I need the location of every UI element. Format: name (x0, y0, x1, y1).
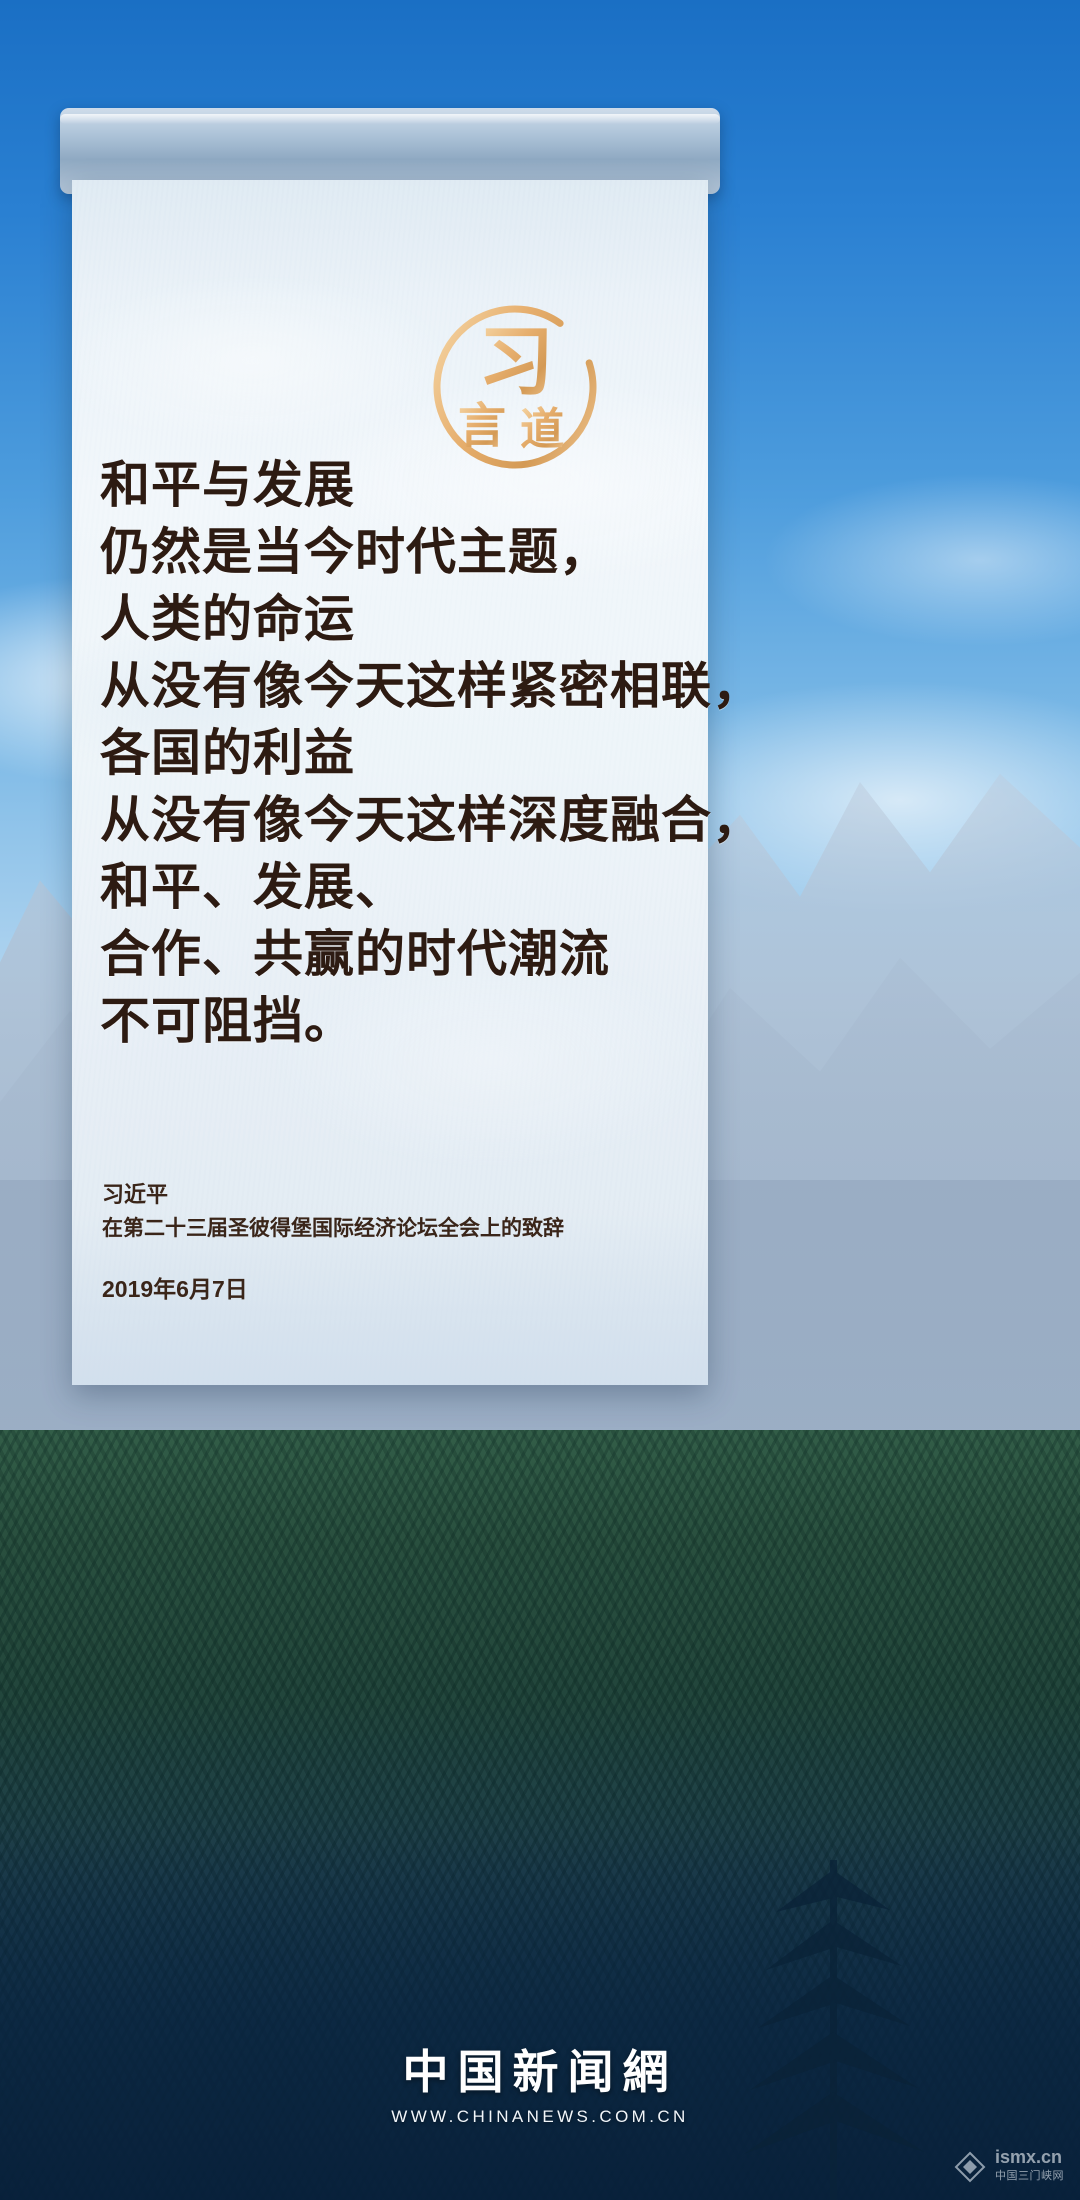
attribution-block: 习近平 在第二十三届圣彼得堡国际经济论坛全会上的致辞 2019年6月7日 (102, 1178, 742, 1306)
watermark-logo-icon (953, 2150, 987, 2184)
quote-line-3: 人类的命运 (100, 586, 740, 653)
speech-occasion: 在第二十三届圣彼得堡国际经济论坛全会上的致辞 (102, 1212, 742, 1246)
quote-line-7: 和平、发展、 (100, 854, 740, 921)
quote-line-1: 和平与发展 (100, 452, 740, 519)
quote-line-5: 各国的利益 (100, 720, 740, 787)
quote-headline: 和平与发展 仍然是当今时代主题， 人类的命运 从没有像今天这样紧密相联， 各国的… (100, 452, 740, 1055)
quote-line-8: 合作、共赢的时代潮流 (100, 921, 740, 988)
brand-name-cn: 中国新闻網 (0, 2046, 1080, 2100)
quote-line-4: 从没有像今天这样紧密相联， (100, 653, 740, 720)
watermark-text: ismx.cn 中国三门峡网 (995, 2148, 1064, 2186)
site-brand: 中国新闻網 WWW.CHINANEWS.COM.CN (0, 2046, 1080, 2127)
quote-line-2: 仍然是当今时代主题， (100, 519, 740, 586)
seal-char-xi: 习 (478, 321, 554, 405)
pine-tree-silhouette (740, 1770, 930, 2200)
brand-url: WWW.CHINANEWS.COM.CN (0, 2107, 1080, 2127)
quote-line-9: 不可阻挡。 (100, 988, 740, 1055)
speech-date: 2019年6月7日 (102, 1272, 742, 1306)
poster-canvas: 习 言 道 和平与发展 仍然是当今时代主题， 人类的命运 从没有像今天这样紧密相… (0, 0, 1080, 2200)
seal-char-dao: 道 (520, 405, 564, 454)
seal-char-yan: 言 (458, 400, 506, 453)
watermark: ismx.cn 中国三门峡网 (953, 2148, 1064, 2186)
watermark-title: ismx.cn (995, 2147, 1062, 2167)
speaker-name: 习近平 (102, 1178, 742, 1212)
watermark-subtitle: 中国三门峡网 (995, 2167, 1064, 2186)
quote-line-6: 从没有像今天这样深度融合， (100, 787, 740, 854)
